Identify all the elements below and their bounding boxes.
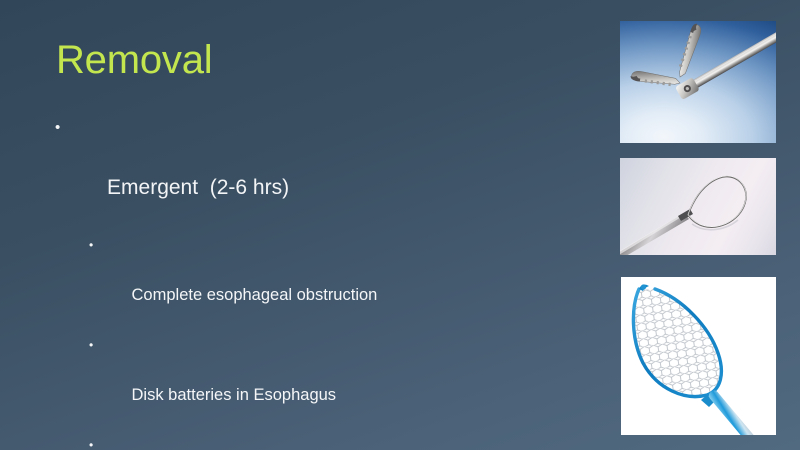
bullet-glyph-level2: •: [89, 233, 93, 258]
list-item-label: Disk batteries in Esophagus: [132, 386, 337, 404]
list-item-heading-label: Emergent (2-6 hrs): [107, 176, 289, 199]
image-polypectomy-snare: [620, 158, 776, 255]
page-title: Removal: [56, 37, 212, 83]
list-item-heading: • Emergent (2-6 hrs): [52, 113, 600, 233]
image-endoscopic-grasping-forceps: [620, 21, 776, 143]
forceps-illustration: [620, 21, 776, 143]
bullet-list: • Emergent (2-6 hrs) • Complete esophage…: [52, 113, 600, 450]
snare-illustration: [620, 158, 776, 255]
bullet-glyph-level1: •: [55, 113, 60, 143]
list-item-label: Complete esophageal obstruction: [132, 286, 378, 304]
list-item: • Sharp objects in the esophagus (35% ha…: [52, 433, 600, 450]
list-item: • Disk batteries in Esophagus: [52, 333, 600, 433]
bullet-glyph-level2: •: [89, 333, 93, 358]
retrieval-net-illustration: [621, 277, 776, 435]
list-item: • Complete esophageal obstruction: [52, 233, 600, 333]
image-retrieval-net: [621, 277, 776, 435]
slide-canvas: Removal • Emergent (2-6 hrs) • Complete …: [0, 0, 800, 450]
bullet-glyph-level2: •: [89, 433, 93, 450]
